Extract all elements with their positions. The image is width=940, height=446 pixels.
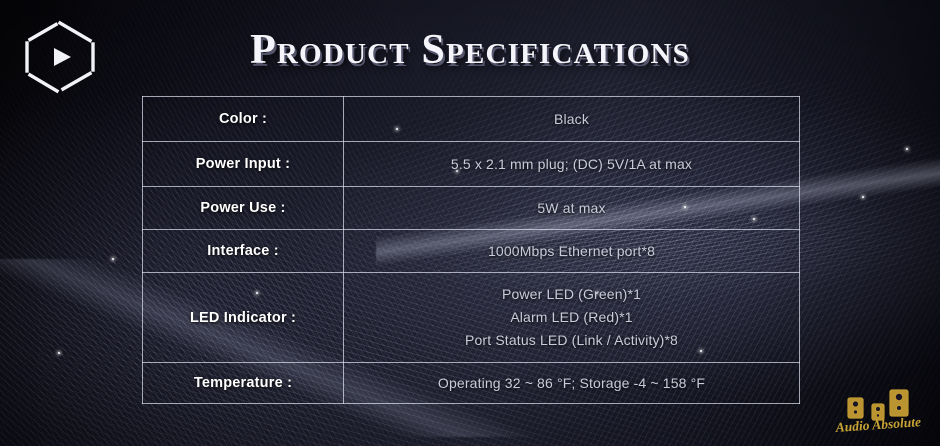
spec-label-temperature: Temperature :	[143, 363, 344, 404]
page-title: Product Specifications	[0, 26, 940, 74]
spec-value-interface: 1000Mbps Ethernet port*8	[344, 230, 800, 273]
table-row: LED Indicator : Power LED (Green)*1 Alar…	[143, 273, 800, 363]
led-line-port-status: Port Status LED (Link / Activity)*8	[352, 329, 791, 352]
led-line-power: Power LED (Green)*1	[352, 283, 791, 306]
spec-label-interface: Interface :	[143, 230, 344, 273]
spec-value-color: Black	[344, 97, 800, 142]
table-row: Temperature : Operating 32 ~ 86 °F; Stor…	[143, 363, 800, 404]
sparkle-dot	[862, 196, 864, 198]
spec-value-power-use: 5W at max	[344, 187, 800, 230]
table-row: Color : Black	[143, 97, 800, 142]
spec-label-led-indicator: LED Indicator :	[143, 273, 344, 363]
sparkle-dot	[906, 148, 908, 150]
spec-value-power-input: 5.5 x 2.1 mm plug; (DC) 5V/1A at max	[344, 142, 800, 187]
specification-table: Color : Black Power Input : 5.5 x 2.1 mm…	[142, 96, 800, 404]
sparkle-dot	[58, 352, 60, 354]
spec-label-power-use: Power Use :	[143, 187, 344, 230]
product-specifications-slide: Product Specifications Color : Black Pow…	[0, 0, 940, 446]
svg-text:Audio Absolute: Audio Absolute	[834, 414, 921, 435]
spec-value-temperature: Operating 32 ~ 86 °F; Storage -4 ~ 158 °…	[344, 363, 800, 404]
spec-value-led-indicator: Power LED (Green)*1 Alarm LED (Red)*1 Po…	[344, 273, 800, 363]
spec-label-power-input: Power Input :	[143, 142, 344, 187]
table-row: Power Use : 5W at max	[143, 187, 800, 230]
table-row: Interface : 1000Mbps Ethernet port*8	[143, 230, 800, 273]
sparkle-dot	[112, 258, 114, 260]
led-line-alarm: Alarm LED (Red)*1	[352, 306, 791, 329]
spec-label-color: Color :	[143, 97, 344, 142]
table-row: Power Input : 5.5 x 2.1 mm plug; (DC) 5V…	[143, 142, 800, 187]
audio-absolute-watermark: Audio Absolute	[832, 382, 928, 440]
